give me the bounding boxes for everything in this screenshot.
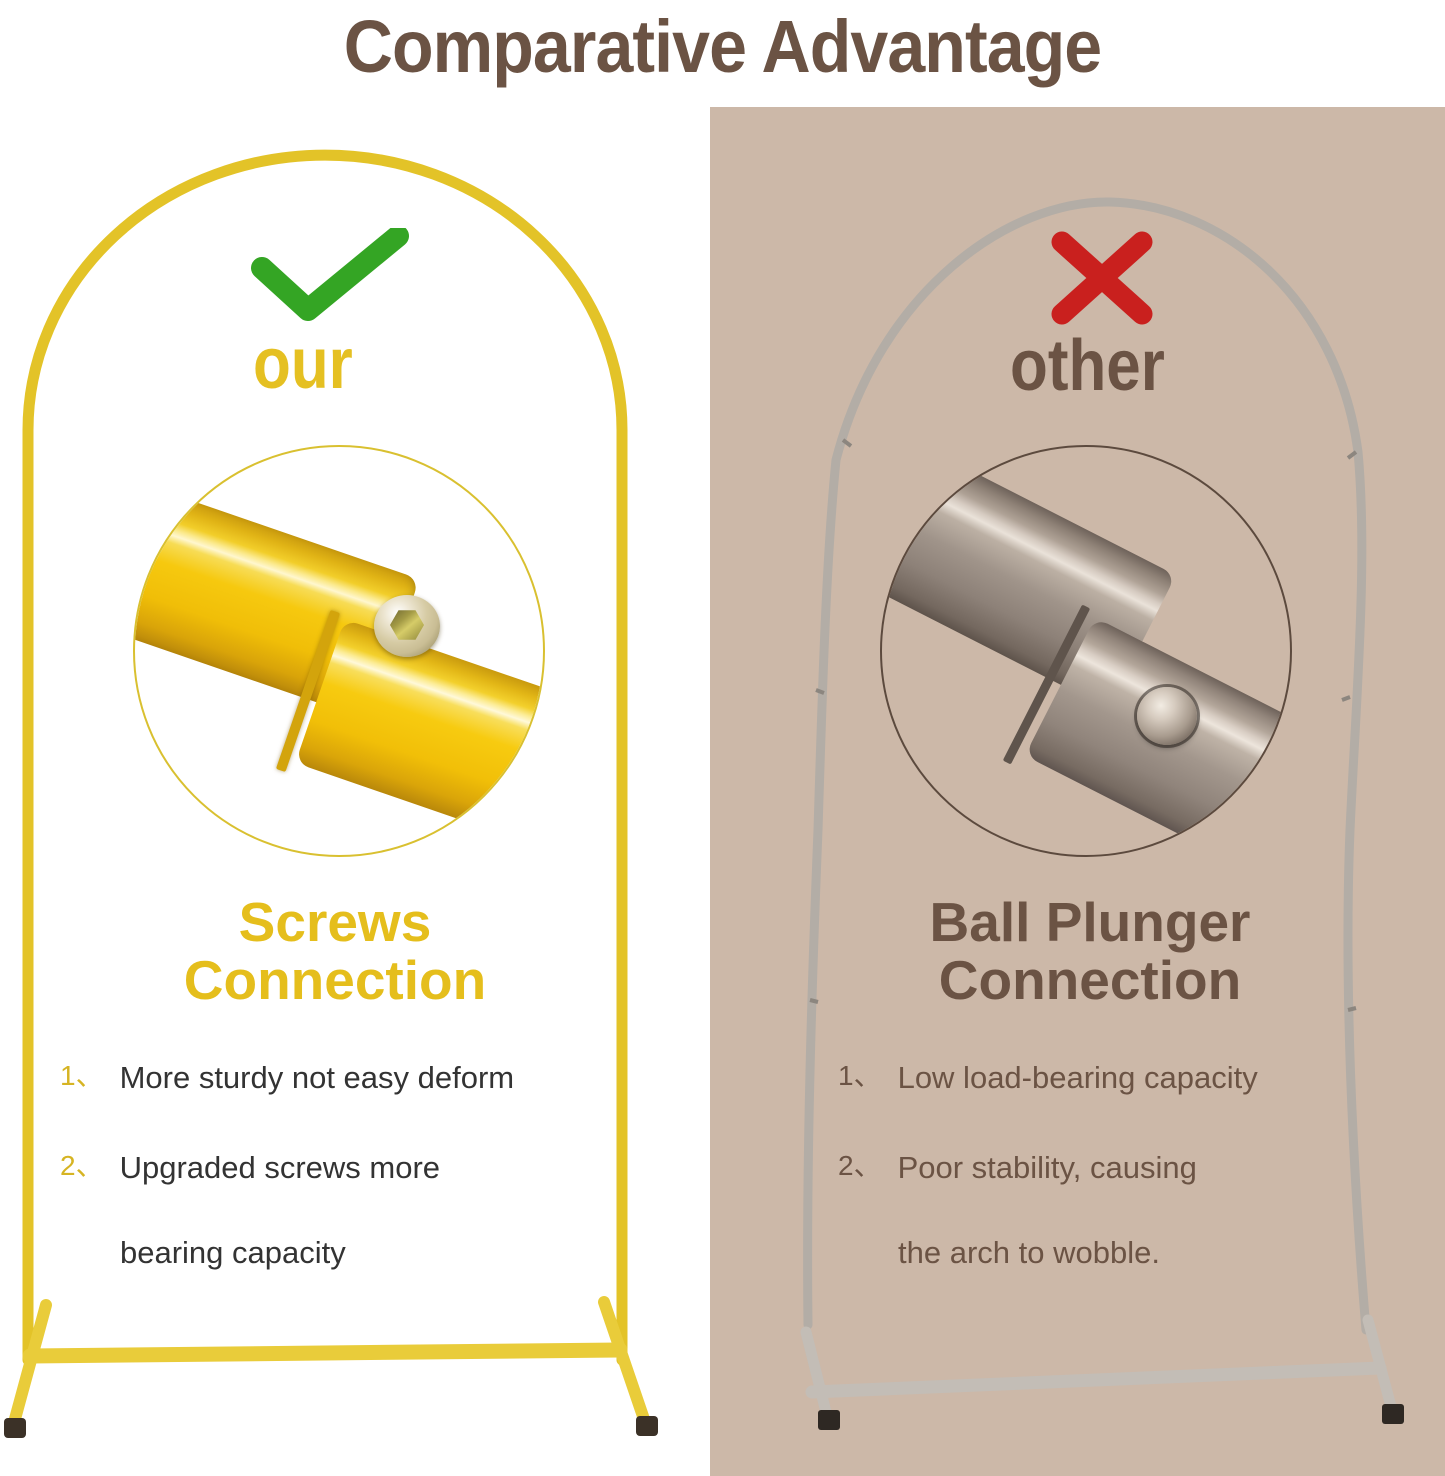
- heading-screws-connection: Screws Connection: [75, 893, 595, 1010]
- heading-line-2: Connection: [75, 951, 595, 1009]
- yellow-tube-lower: [295, 619, 545, 857]
- cross-icon: [1048, 230, 1156, 326]
- bullet-text: Upgraded screws more: [120, 1148, 440, 1188]
- bullet-text: Low load-bearing capacity: [898, 1058, 1258, 1098]
- list-item: 2、 Upgraded screws more: [60, 1148, 660, 1188]
- screw-head-icon: [374, 595, 440, 657]
- heading-line-1: Screws: [75, 893, 595, 951]
- heading-line-1: Ball Plunger: [830, 893, 1350, 951]
- bullet-number: 2、: [838, 1148, 882, 1183]
- bullet-text: More sturdy not easy deform: [120, 1058, 515, 1098]
- detail-circle-screws: [133, 445, 545, 857]
- bullet-text: Poor stability, causing: [898, 1148, 1197, 1188]
- hex-socket-icon: [390, 609, 424, 641]
- ball-plunger-icon: [1137, 687, 1197, 745]
- heading-line-2: Connection: [830, 951, 1350, 1009]
- bullet-text-continued: the arch to wobble.: [898, 1233, 1398, 1273]
- bullet-list-our: 1、 More sturdy not easy deform 2、 Upgrad…: [60, 1058, 660, 1273]
- bullet-number: 1、: [60, 1058, 104, 1093]
- label-our: our: [253, 328, 353, 400]
- bullet-list-other: 1、 Low load-bearing capacity 2、 Poor sta…: [838, 1058, 1398, 1273]
- detail-circle-ball-plunger: [880, 445, 1292, 857]
- bullet-number: 2、: [60, 1148, 104, 1183]
- page-title: Comparative Advantage: [58, 0, 1387, 92]
- bullet-number: 1、: [838, 1058, 882, 1093]
- check-icon: [250, 228, 410, 328]
- list-item: 1、 Low load-bearing capacity: [838, 1058, 1398, 1098]
- label-other: other: [1010, 330, 1165, 402]
- heading-ball-plunger-connection: Ball Plunger Connection: [830, 893, 1350, 1010]
- comparison-graphic: Comparative Advantage: [0, 0, 1445, 1476]
- list-item: 2、 Poor stability, causing: [838, 1148, 1398, 1188]
- list-item: 1、 More sturdy not easy deform: [60, 1058, 660, 1098]
- bullet-text-continued: bearing capacity: [120, 1233, 660, 1273]
